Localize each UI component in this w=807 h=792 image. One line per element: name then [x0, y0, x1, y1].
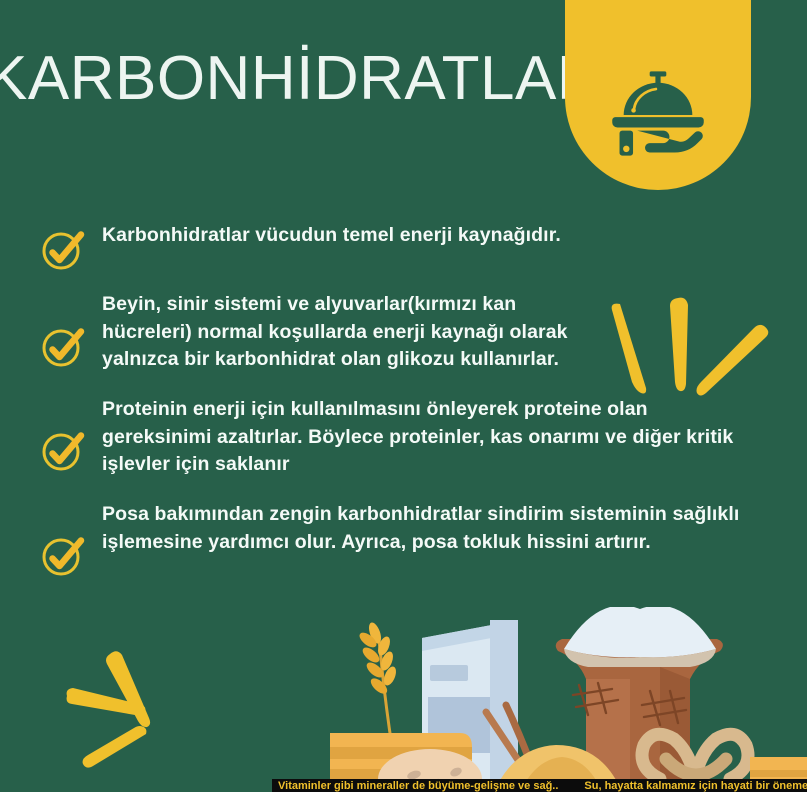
poster-header: KARBONHİDRATLAR [0, 0, 807, 200]
check-circle-icon [40, 533, 86, 579]
carbohydrate-foods-illustration [330, 607, 807, 792]
list-item-text: Proteinin enerji için kullanılmasını önl… [102, 396, 762, 479]
list-item-text: Karbonhidratlar vücudun temel enerji kay… [102, 222, 561, 250]
spark-burst-decoration [62, 640, 202, 775]
list-item-text: Beyin, sinir sistemi ve alyuvarlar(kırmı… [102, 291, 602, 374]
list-item: Posa bakımından zengin karbonhidratlar s… [0, 501, 807, 579]
infographic-poster: KARBONHİDRATLAR [0, 0, 807, 792]
check-circle-icon [40, 324, 86, 370]
wheat-stalk [357, 621, 398, 747]
page-title: KARBONHİDRATLAR [0, 48, 602, 110]
list-item-text: Posa bakımından zengin karbonhidratlar s… [102, 501, 762, 556]
serving-tray-in-hand-icon [606, 62, 710, 166]
bullet-list: Karbonhidratlar vücudun temel enerji kay… [0, 222, 807, 597]
list-item: Beyin, sinir sistemi ve alyuvarlar(kırmı… [0, 291, 807, 374]
list-item: Karbonhidratlar vücudun temel enerji kay… [0, 222, 807, 273]
caption-line-a: Vitaminler gibi mineraller de büyüme-gel… [278, 780, 558, 792]
check-circle-icon [40, 227, 86, 273]
bottom-caption-strip: Vitaminler gibi mineraller de büyüme-gel… [272, 779, 807, 792]
header-badge [565, 0, 751, 190]
list-item: Proteinin enerji için kullanılmasını önl… [0, 396, 807, 479]
caption-line-b: Su, hayatta kalmamız için hayati bir öne… [584, 780, 807, 792]
check-circle-icon [40, 428, 86, 474]
